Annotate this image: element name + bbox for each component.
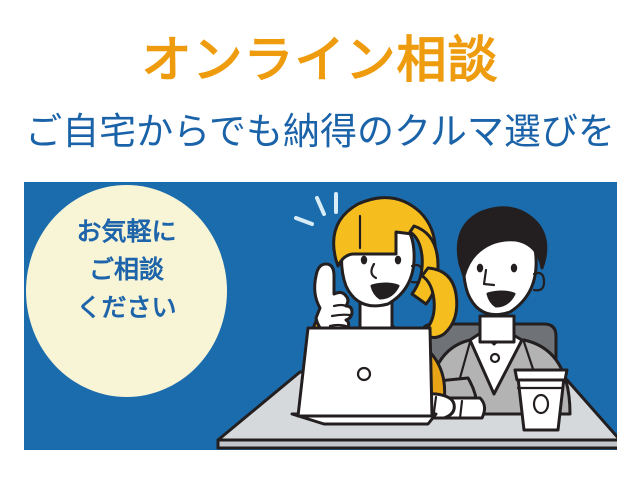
callout-line-2: ご相談 [26, 251, 227, 289]
subheadline: ご自宅からでも納得のクルマ選びを [0, 110, 640, 154]
headline: オンライン相談 [0, 32, 640, 88]
laptop [292, 328, 436, 424]
callout-line-3: ください [26, 289, 227, 327]
callout-line-1: お気軽に [26, 213, 227, 251]
callout-text: お気軽に ご相談 ください [26, 213, 227, 327]
callout-bubble: お気軽に ご相談 ください [26, 185, 227, 397]
sparkle-marks [296, 194, 336, 224]
coffee-cup [515, 370, 567, 430]
banner-root: オンライン相談 ご自宅からでも納得のクルマ選びを .ol { stroke:#2… [0, 0, 640, 480]
illustration-panel: .ol { stroke:#231f20; stroke-width:3; st… [24, 182, 617, 450]
